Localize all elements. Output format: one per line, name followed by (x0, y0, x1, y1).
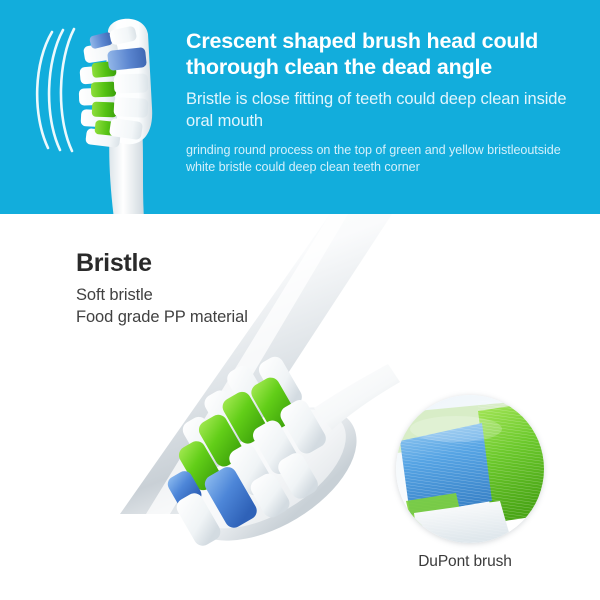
toothbrush-head-bristles-closeup (100, 334, 400, 564)
bristle-info-block: Bristle Soft bristle Food grade PP mater… (76, 248, 406, 328)
dupont-inset (396, 395, 544, 543)
dupont-caption: DuPont brush (330, 552, 600, 572)
bristle-title: Bristle (76, 248, 406, 278)
toothbrush-head-side-view (48, 4, 188, 214)
lower-panel: Bristle Soft bristle Food grade PP mater… (0, 214, 600, 600)
hero-text-block: Crescent shaped brush head could thoroug… (186, 28, 586, 175)
bristle-macro-closeup (396, 395, 544, 543)
hero-microline: grinding round process on the top of gre… (186, 142, 586, 175)
product-feature-image: Crescent shaped brush head could thoroug… (0, 0, 600, 600)
hero-panel: Crescent shaped brush head could thoroug… (0, 0, 600, 214)
bristle-feature-1: Food grade PP material (76, 306, 406, 328)
hero-subline: Bristle is close fitting of teeth could … (186, 89, 586, 132)
hero-headline: Crescent shaped brush head could thoroug… (186, 28, 586, 80)
bristle-feature-0: Soft bristle (76, 284, 406, 306)
